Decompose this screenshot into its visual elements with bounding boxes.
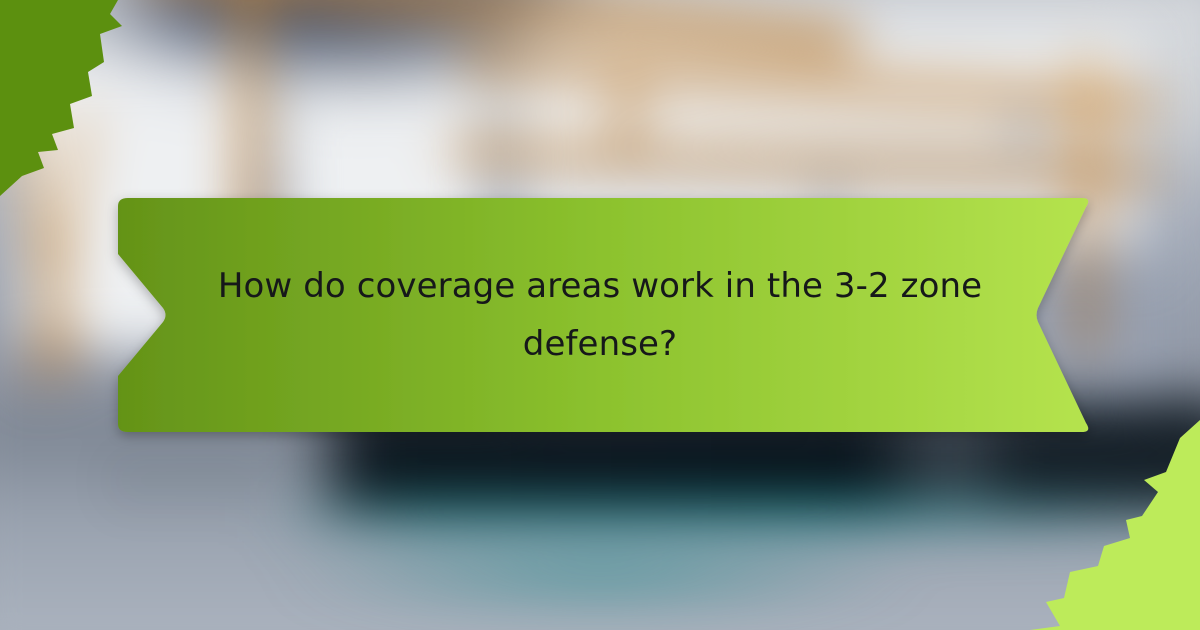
share-card: How do coverage areas work in the 3-2 zo… bbox=[0, 0, 1200, 630]
headline-text: How do coverage areas work in the 3-2 zo… bbox=[175, 196, 1025, 434]
